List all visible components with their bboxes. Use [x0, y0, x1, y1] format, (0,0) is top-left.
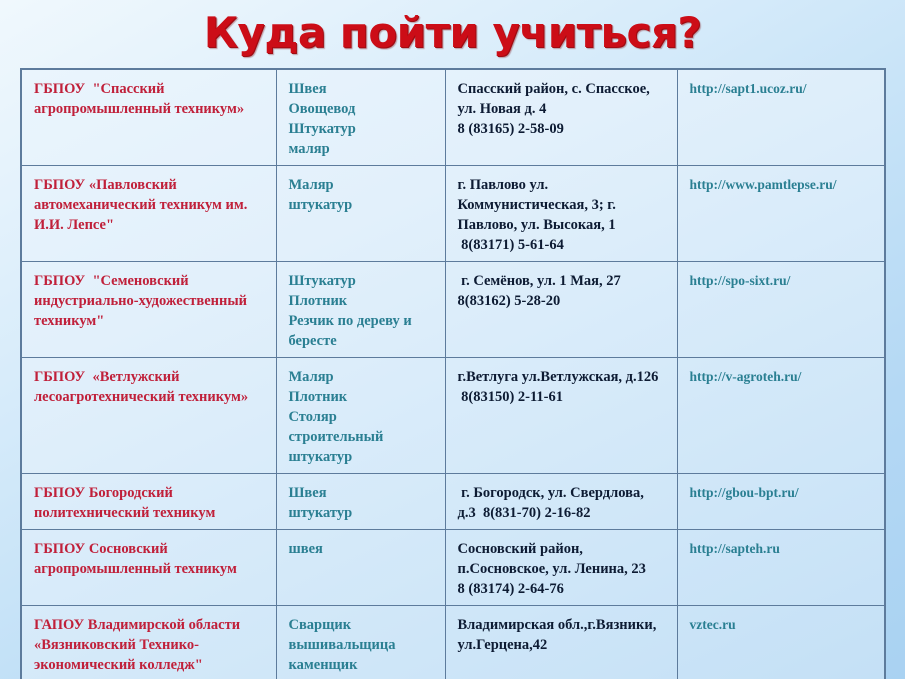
table-row: ГБПОУ Сосновский агропромышленный техник…	[21, 530, 885, 606]
text-line: ул.Герцена,42	[458, 635, 667, 655]
profession-cell: Штукатур Плотник Резчик по дереву и бере…	[276, 262, 445, 358]
text-line: 8 (83165) 2-58-09	[458, 119, 667, 139]
text-line: ГБПОУ "Семеновский	[34, 271, 266, 291]
table-row: ГБПОУ "Спасский агропромышленный технику…	[21, 69, 885, 166]
text-line: Владимирская обл.,г.Вязники,	[458, 615, 667, 635]
text-line: ГБПОУ Сосновский	[34, 539, 266, 559]
text-line: д.3 8(831-70) 2-16-82	[458, 503, 667, 523]
address-cell: г. Семёнов, ул. 1 Мая, 27 8(83162) 5-28-…	[445, 262, 677, 358]
text-line: агропромышленный техникум»	[34, 99, 266, 119]
text-line: г. Богородск, ул. Свердлова,	[458, 483, 667, 503]
text-line: «Вязниковский Технико-	[34, 635, 266, 655]
text-line: каменщик	[289, 655, 435, 675]
text-line: г.Ветлуга ул.Ветлужская, д.126	[458, 367, 667, 387]
address-cell: Владимирская обл.,г.Вязники, ул.Герцена,…	[445, 606, 677, 679]
institution-name-cell: ГБПОУ "Спасский агропромышленный технику…	[21, 69, 276, 166]
text-line: ГБПОУ «Ветлужский	[34, 367, 266, 387]
website-link[interactable]: http://sapt1.ucoz.ru/	[690, 79, 875, 98]
website-cell[interactable]: http://spo-sixt.ru/	[677, 262, 885, 358]
text-line: Овощевод	[289, 99, 435, 119]
text-line: ул. Новая д. 4	[458, 99, 667, 119]
website-link[interactable]: vztec.ru	[690, 615, 875, 634]
address-cell: г. Богородск, ул. Свердлова, д.3 8(831-7…	[445, 474, 677, 530]
text-line: г. Семёнов, ул. 1 Мая, 27	[458, 271, 667, 291]
text-line: п.Сосновское, ул. Ленина, 23	[458, 559, 667, 579]
text-line: вышивальщица	[289, 635, 435, 655]
website-cell[interactable]: vztec.ru	[677, 606, 885, 679]
website-cell[interactable]: http://v-agroteh.ru/	[677, 358, 885, 474]
text-line: Маляр	[289, 175, 435, 195]
website-link[interactable]: http://sapteh.ru	[690, 539, 875, 558]
institution-name-cell: ГАПОУ Владимирской области «Вязниковский…	[21, 606, 276, 679]
text-line: 8(83171) 5-61-64	[458, 235, 667, 255]
text-line: Штукатур	[289, 271, 435, 291]
text-line: Плотник	[289, 291, 435, 311]
text-line: Сварщик	[289, 615, 435, 635]
text-line: 8 (83174) 2-64-76	[458, 579, 667, 599]
text-line: Швея	[289, 483, 435, 503]
profession-cell: Маляр Плотник Столяр строительный штукат…	[276, 358, 445, 474]
text-line: техникум"	[34, 311, 266, 331]
text-line: штукатур	[289, 447, 435, 467]
profession-cell: Швея штукатур	[276, 474, 445, 530]
table-row: ГБПОУ Богородский политехнический техник…	[21, 474, 885, 530]
website-cell[interactable]: http://sapteh.ru	[677, 530, 885, 606]
institution-name-cell: ГБПОУ Сосновский агропромышленный техник…	[21, 530, 276, 606]
institution-name-cell: ГБПОУ "Семеновский индустриально-художес…	[21, 262, 276, 358]
table-row: ГБПОУ «Ветлужский лесоагротехнический те…	[21, 358, 885, 474]
page-title: Куда пойти учиться?	[0, 8, 905, 58]
text-line: швея	[289, 539, 435, 559]
profession-cell: Сварщик вышивальщица каменщик	[276, 606, 445, 679]
website-link[interactable]: http://www.pamtlepse.ru/	[690, 175, 875, 194]
text-line: лесоагротехнический техникум»	[34, 387, 266, 407]
address-cell: г.Ветлуга ул.Ветлужская, д.126 8(83150) …	[445, 358, 677, 474]
institutions-table: ГБПОУ "Спасский агропромышленный технику…	[20, 68, 886, 679]
text-line: ГАПОУ Владимирской области	[34, 615, 266, 635]
profession-cell: Швея Овощевод Штукатур маляр	[276, 69, 445, 166]
text-line: маляр	[289, 139, 435, 159]
table-row: ГАПОУ Владимирской области «Вязниковский…	[21, 606, 885, 679]
text-line: Швея	[289, 79, 435, 99]
text-line: Плотник	[289, 387, 435, 407]
website-link[interactable]: http://spo-sixt.ru/	[690, 271, 875, 290]
institution-name-cell: ГБПОУ Богородский политехнический техник…	[21, 474, 276, 530]
text-line: штукатур	[289, 503, 435, 523]
website-link[interactable]: http://gbou-bpt.ru/	[690, 483, 875, 502]
address-cell: Спасский район, с. Спасское, ул. Новая д…	[445, 69, 677, 166]
address-cell: Сосновский район, п.Сосновское, ул. Лени…	[445, 530, 677, 606]
institution-name-cell: ГБПОУ «Ветлужский лесоагротехнический те…	[21, 358, 276, 474]
text-line: индустриально-художественный	[34, 291, 266, 311]
text-line: бересте	[289, 331, 435, 351]
text-line: экономический колледж"	[34, 655, 266, 675]
text-line: автомеханический техникум им.	[34, 195, 266, 215]
text-line: 8(83162) 5-28-20	[458, 291, 667, 311]
text-line: ГБПОУ Богородский	[34, 483, 266, 503]
text-line: И.И. Лепсе"	[34, 215, 266, 235]
text-line: Спасский район, с. Спасское,	[458, 79, 667, 99]
text-line: Сосновский район,	[458, 539, 667, 559]
institution-name-cell: ГБПОУ «Павловский автомеханический техни…	[21, 166, 276, 262]
table-body: ГБПОУ "Спасский агропромышленный технику…	[21, 69, 885, 679]
text-line: Коммунистическая, 3; г.	[458, 195, 667, 215]
website-cell[interactable]: http://www.pamtlepse.ru/	[677, 166, 885, 262]
text-line: агропромышленный техникум	[34, 559, 266, 579]
text-line: ГБПОУ «Павловский	[34, 175, 266, 195]
text-line: Резчик по дереву и	[289, 311, 435, 331]
website-cell[interactable]: http://gbou-bpt.ru/	[677, 474, 885, 530]
text-line: Штукатур	[289, 119, 435, 139]
text-line: Павлово, ул. Высокая, 1	[458, 215, 667, 235]
text-line: штукатур	[289, 195, 435, 215]
text-line: Маляр	[289, 367, 435, 387]
address-cell: г. Павлово ул. Коммунистическая, 3; г. П…	[445, 166, 677, 262]
profession-cell: Маляр штукатур	[276, 166, 445, 262]
profession-cell: швея	[276, 530, 445, 606]
website-cell[interactable]: http://sapt1.ucoz.ru/	[677, 69, 885, 166]
text-line: г. Павлово ул.	[458, 175, 667, 195]
table-row: ГБПОУ «Павловский автомеханический техни…	[21, 166, 885, 262]
table-row: ГБПОУ "Семеновский индустриально-художес…	[21, 262, 885, 358]
website-link[interactable]: http://v-agroteh.ru/	[690, 367, 875, 386]
text-line: политехнический техникум	[34, 503, 266, 523]
text-line: 8(83150) 2-11-61	[458, 387, 667, 407]
text-line: ГБПОУ "Спасский	[34, 79, 266, 99]
text-line: Столяр строительный	[289, 407, 435, 447]
